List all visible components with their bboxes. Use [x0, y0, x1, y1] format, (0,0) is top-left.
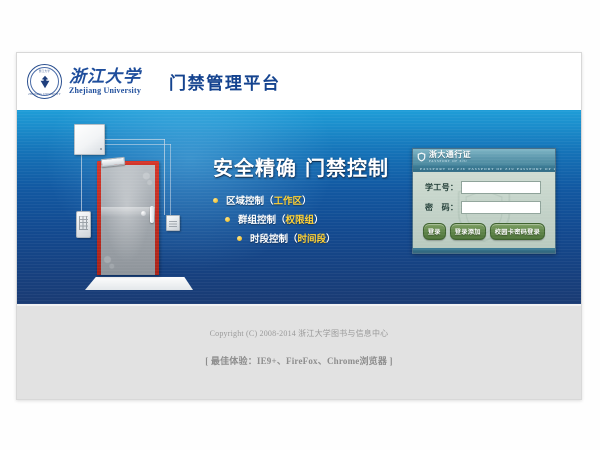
bullet-dot-icon — [237, 236, 242, 241]
passport-strip: PASSPORT OF ZJU PASSPORT OF ZJU PASSPORT… — [413, 165, 555, 172]
card-reader-icon — [166, 215, 180, 231]
floor-slab — [85, 277, 193, 290]
feature-suffix: ） — [326, 231, 336, 245]
door-leaf — [101, 165, 155, 275]
wire-controller-top-2 — [103, 144, 171, 145]
field-row-username: 学工号： — [413, 181, 555, 194]
site-card: 浙江大学 ZHEJIANG UNIVERSITY 浙江大学 Zhejiang U… — [16, 52, 582, 400]
feature-accent: 时间段 — [298, 231, 327, 245]
banner-headline: 安全精确 门禁控制 — [213, 152, 413, 181]
bullet-dot-icon — [213, 198, 218, 203]
footer-copyright: Copyright (C) 2008-2014 浙江大学图书与信息中心 — [17, 306, 581, 339]
door-knob — [141, 211, 146, 216]
page-root: 浙江大学 ZHEJIANG UNIVERSITY 浙江大学 Zhejiang U… — [0, 0, 600, 450]
seal-top-text: 浙江大学 — [27, 69, 62, 73]
door-sheen — [101, 207, 155, 216]
login-add-button[interactable]: 登录添加 — [450, 223, 486, 240]
login-panel: 浙大通行证 PASSPORT OF ZJU PASSPORT OF ZJU PA… — [412, 148, 556, 254]
access-control-illustration — [55, 118, 201, 304]
login-panel-body: 学工号： 密 码： 登录 登录添加 校园卡密码登录 — [413, 172, 555, 248]
controller-box-icon — [74, 124, 105, 155]
login-panel-title-block: 浙大通行证 PASSPORT OF ZJU — [429, 151, 471, 163]
shield-icon — [417, 152, 426, 162]
feature-suffix: ） — [314, 212, 324, 226]
login-button-row: 登录 登录添加 校园卡密码登录 — [413, 223, 555, 240]
feature-item-time-control: 时段控制（ 时间段 ） — [237, 231, 413, 245]
logo-chinese-name: 浙江大学 — [69, 68, 141, 86]
door-strike-plate — [155, 228, 159, 234]
feature-list: 区域控制（ 工作区 ） 群组控制（ 权限组 ） 时段控制（ 时间段 — [213, 193, 413, 245]
username-label: 学工号： — [425, 182, 461, 193]
feature-label: 群组控制（ — [238, 212, 286, 226]
bullet-dot-icon — [225, 217, 230, 222]
keypad-reader-icon — [76, 211, 91, 238]
login-panel-titlebar: 浙大通行证 PASSPORT OF ZJU — [413, 149, 555, 165]
feature-accent: 工作区 — [274, 193, 303, 207]
passport-strip-text: PASSPORT OF ZJU PASSPORT OF ZJU PASSPORT… — [413, 167, 555, 171]
zju-seal-logo: 浙江大学 ZHEJIANG UNIVERSITY — [27, 64, 62, 99]
site-header: 浙江大学 ZHEJIANG UNIVERSITY 浙江大学 Zhejiang U… — [17, 53, 581, 110]
keypad-keys — [79, 216, 89, 230]
login-panel-subtitle: PASSPORT OF ZJU — [429, 160, 471, 163]
page-title: 门禁管理平台 — [169, 69, 281, 94]
wire-to-card-reader — [164, 139, 165, 215]
banner-copy: 安全精确 门禁控制 区域控制（ 工作区 ） 群组控制（ 权限组 ） — [213, 152, 413, 261]
logo-wordmark: 浙江大学 Zhejiang University — [69, 68, 141, 96]
login-panel-title: 浙大通行证 — [429, 151, 471, 159]
password-input[interactable] — [461, 201, 541, 214]
feature-item-group-control: 群组控制（ 权限组 ） — [225, 212, 413, 226]
wire-to-card-reader-2 — [170, 144, 171, 215]
door-pattern — [101, 165, 155, 275]
username-input[interactable] — [461, 181, 541, 194]
feature-label: 时段控制（ — [250, 231, 298, 245]
footer-browser-note: [ 最佳体验：IE9+、FireFox、Chrome浏览器 ] — [17, 354, 581, 367]
wire-to-keypad — [81, 153, 82, 211]
field-row-password: 密 码： — [413, 201, 555, 214]
feature-item-area-control: 区域控制（ 工作区 ） — [213, 193, 413, 207]
wire-controller-top — [103, 139, 165, 140]
card-reader-grid — [169, 219, 177, 227]
feature-label: 区域控制（ — [226, 193, 274, 207]
door-handle — [150, 206, 154, 223]
seal-bird-icon — [36, 73, 53, 90]
seal-bottom-text: ZHEJIANG UNIVERSITY — [27, 93, 62, 96]
campus-card-login-button[interactable]: 校园卡密码登录 — [490, 223, 545, 240]
feature-accent: 权限组 — [286, 212, 315, 226]
password-label: 密 码： — [425, 202, 461, 213]
controller-led — [100, 148, 102, 150]
feature-suffix: ） — [302, 193, 312, 207]
hero-banner: 安全精确 门禁控制 区域控制（ 工作区 ） 群组控制（ 权限组 ） — [17, 110, 581, 304]
login-button[interactable]: 登录 — [423, 223, 446, 240]
login-panel-footer-strip — [413, 248, 555, 253]
logo-english-name: Zhejiang University — [69, 87, 141, 96]
site-footer: Copyright (C) 2008-2014 浙江大学图书与信息中心 [ 最佳… — [17, 304, 581, 400]
